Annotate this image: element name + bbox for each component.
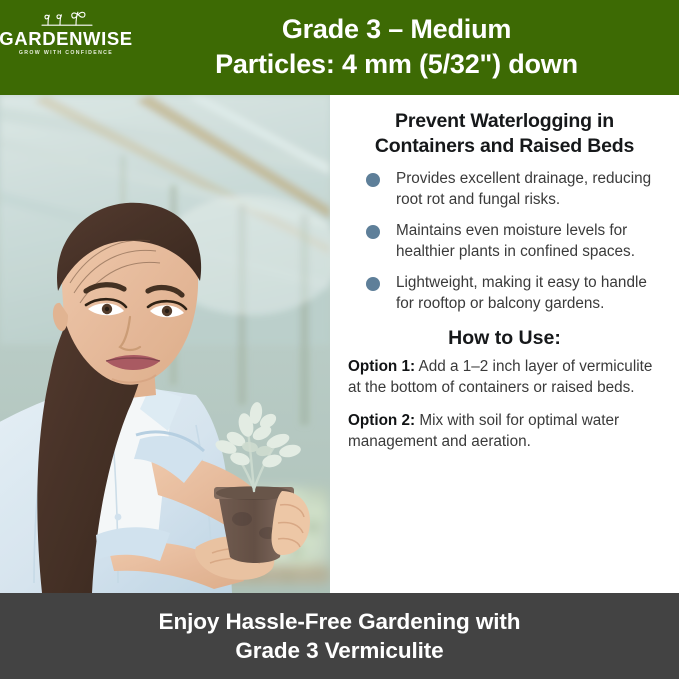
header-banner: GARDENWISE GROW WITH CONFIDENCE Grade 3 …: [0, 0, 679, 95]
list-item: Lightweight, making it easy to handle fo…: [350, 273, 663, 314]
benefits-list: Provides excellent drainage, reducing ro…: [342, 169, 667, 314]
header-title-line-1: Grade 3 – Medium: [124, 12, 669, 47]
bullet-dot-icon: [366, 225, 380, 239]
product-photo: [0, 95, 330, 593]
logo-wordmark: GARDENWISE: [0, 28, 133, 49]
content-heading: Prevent Waterlogging in Containers and R…: [342, 109, 667, 159]
benefit-text: Lightweight, making it easy to handle fo…: [396, 273, 663, 314]
benefit-text: Maintains even moisture levels for healt…: [396, 221, 663, 262]
brand-logo: GARDENWISE GROW WITH CONFIDENCE: [8, 8, 124, 70]
list-item: Provides excellent drainage, reducing ro…: [350, 169, 663, 210]
content-heading-line-1: Prevent Waterlogging in: [395, 110, 614, 132]
list-item: Maintains even moisture levels for healt…: [350, 221, 663, 262]
content-heading-line-2: Containers and Raised Beds: [375, 135, 634, 157]
option-1-label: Option 1:: [348, 358, 415, 375]
footer-line-1: Enjoy Hassle-Free Gardening with: [159, 607, 521, 636]
product-infographic: GARDENWISE GROW WITH CONFIDENCE Grade 3 …: [0, 0, 679, 679]
how-to-use-heading: How to Use:: [342, 326, 667, 350]
benefit-text: Provides excellent drainage, reducing ro…: [396, 169, 663, 210]
option-2-label: Option 2:: [348, 412, 415, 429]
option-2: Option 2: Mix with soil for optimal wate…: [348, 411, 665, 452]
header-title-line-2: Particles: 4 mm (5/32") down: [124, 47, 669, 82]
logo-tagline: GROW WITH CONFIDENCE: [19, 49, 113, 58]
footer-banner: Enjoy Hassle-Free Gardening with Grade 3…: [0, 593, 679, 679]
footer-line-2: Grade 3 Vermiculite: [235, 636, 443, 665]
bullet-dot-icon: [366, 277, 380, 291]
option-1: Option 1: Add a 1–2 inch layer of vermic…: [348, 357, 665, 398]
content-panel: Prevent Waterlogging in Containers and R…: [330, 95, 679, 593]
three-sprouts-icon: [34, 8, 98, 28]
bullet-dot-icon: [366, 173, 380, 187]
header-title-block: Grade 3 – Medium Particles: 4 mm (5/32")…: [124, 12, 669, 82]
